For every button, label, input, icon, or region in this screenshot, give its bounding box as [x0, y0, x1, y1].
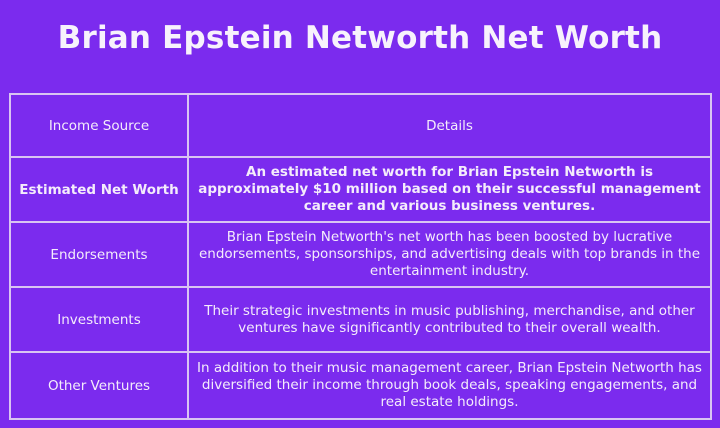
column-header-income-source: Income Source: [10, 94, 188, 157]
table-row: Investments Their strategic investments …: [10, 287, 711, 352]
cell-details: An estimated net worth for Brian Epstein…: [188, 157, 711, 222]
table-row: Other Ventures In addition to their musi…: [10, 352, 711, 419]
column-header-details: Details: [188, 94, 711, 157]
page-title: Brian Epstein Networth Net Worth: [0, 19, 720, 57]
table-header-row: Income Source Details: [10, 94, 711, 157]
cell-income-source: Other Ventures: [10, 352, 188, 419]
cell-details: In addition to their music management ca…: [188, 352, 711, 419]
table-row: Endorsements Brian Epstein Networth's ne…: [10, 222, 711, 287]
cell-details: Brian Epstein Networth's net worth has b…: [188, 222, 711, 287]
cell-income-source: Endorsements: [10, 222, 188, 287]
cell-income-source: Estimated Net Worth: [10, 157, 188, 222]
cell-income-source: Investments: [10, 287, 188, 352]
table-body: Estimated Net Worth An estimated net wor…: [10, 157, 711, 419]
table-row: Estimated Net Worth An estimated net wor…: [10, 157, 711, 222]
table-head: Income Source Details: [10, 94, 711, 157]
networth-table-container: Income Source Details Estimated Net Wort…: [9, 93, 710, 418]
networth-page: Brian Epstein Networth Net Worth Income …: [0, 0, 720, 428]
cell-details: Their strategic investments in music pub…: [188, 287, 711, 352]
networth-table: Income Source Details Estimated Net Wort…: [9, 93, 712, 420]
